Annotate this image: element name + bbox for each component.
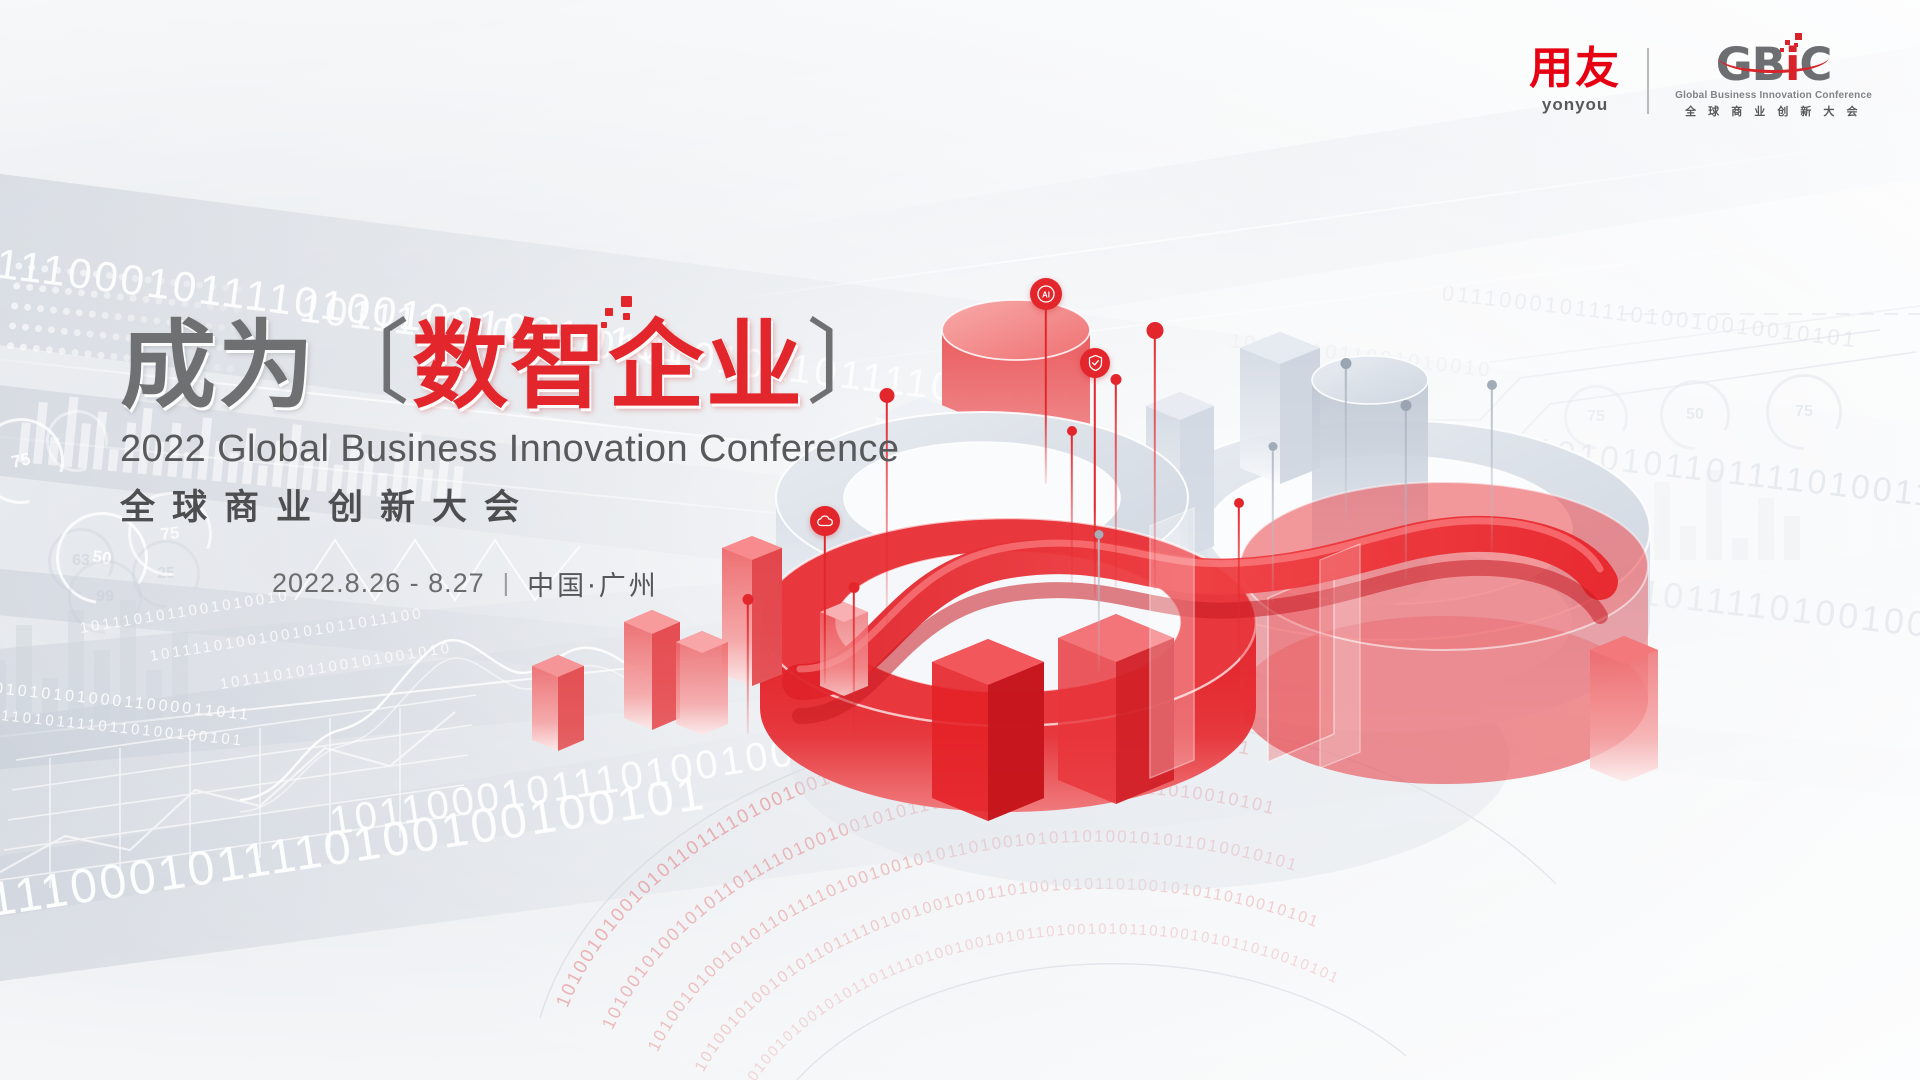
pin-dot-gray-5 (1094, 530, 1104, 672)
dot-marker-icon (1111, 374, 1122, 385)
pixel-sparkle-icon (1779, 33, 1805, 55)
pin-stem (1345, 368, 1347, 524)
ai-icon: AI (1030, 278, 1062, 310)
bracket-close: 〕 (806, 318, 898, 410)
gbic-tagline-en: Global Business Innovation Conference (1675, 90, 1872, 101)
pin-stem (1045, 308, 1047, 484)
gbic-wordmark: GBiC (1716, 42, 1832, 87)
bracket-open: 〔 (318, 318, 410, 410)
subtitle-chinese: 全球商业创新大会 (120, 479, 900, 530)
event-meta: 2022.8.26 - 8.27 | 中国·广州 (272, 564, 900, 603)
dot-marker-icon (1234, 498, 1244, 508)
pin-stem (853, 592, 855, 734)
dot-marker-icon (1147, 322, 1164, 339)
pin-dot-5 (1146, 322, 1164, 590)
event-location: 中国·广州 (527, 564, 659, 603)
headline-gray-text: 成为 (120, 318, 316, 414)
pin-dot-7 (1233, 498, 1244, 654)
subtitle-english: 2022 Global Business Innovation Conferen… (120, 428, 900, 471)
pin-stem (1070, 435, 1072, 584)
pin-dot-gray-4 (1486, 380, 1497, 552)
pin-dot-gray-2 (1268, 442, 1278, 602)
dot-marker-icon (1067, 426, 1077, 436)
pin-stem (1098, 539, 1100, 672)
pin-dot-gray-3 (1340, 358, 1352, 524)
pin-dot-3 (742, 594, 754, 734)
svg-text:AI: AI (1042, 291, 1050, 300)
gbic-tagline-cn: 全 球 商 业 创 新 大 会 (1685, 103, 1862, 119)
dot-marker-icon (1269, 442, 1278, 451)
yonyou-logo[interactable]: 用友 yonyou (1529, 47, 1621, 115)
pin-stem (1237, 507, 1239, 654)
pin-dot-4 (1110, 374, 1122, 588)
dot-marker-icon (1487, 380, 1497, 390)
event-date: 2022.8.26 - 8.27 (272, 568, 485, 599)
red-bar-far-right (1590, 636, 1658, 782)
pin-stem (747, 604, 749, 734)
poster-canvas: 75 63 50 99 25 75 75 50 75 0111000101111… (0, 0, 1920, 1080)
pin-ai: AI (1028, 278, 1064, 484)
shield-icon (1080, 348, 1110, 378)
pin-stem (1490, 389, 1492, 552)
pin-dot-gray-1 (1400, 400, 1412, 580)
logo-lockup: 用友 yonyou GBiC Global Business Innovatio… (1529, 42, 1872, 119)
gbic-logo[interactable]: GBiC Global Business Innovation Conferen… (1675, 42, 1872, 119)
yonyou-logo-cn: 用友 (1529, 47, 1621, 91)
pin-stem (1154, 336, 1156, 590)
pin-stem (1115, 384, 1117, 588)
pin-dot-6 (1066, 426, 1077, 584)
pin-dot-2 (848, 582, 860, 734)
dot-marker-icon (1401, 400, 1412, 411)
hero-text-block: 成为 〔 数智企业 〕 2022 Global Business Innovat… (120, 318, 900, 603)
pin-stem (1405, 410, 1407, 580)
meta-separator: | (503, 569, 510, 598)
headline: 成为 〔 数智企业 〕 (120, 318, 900, 414)
yonyou-logo-en: yonyou (1542, 95, 1608, 115)
pin-stem (1272, 451, 1274, 602)
dot-marker-icon (1095, 530, 1104, 539)
dot-marker-icon (1341, 358, 1352, 369)
sparkle-accent-icon (601, 296, 647, 336)
logo-divider (1647, 48, 1649, 114)
